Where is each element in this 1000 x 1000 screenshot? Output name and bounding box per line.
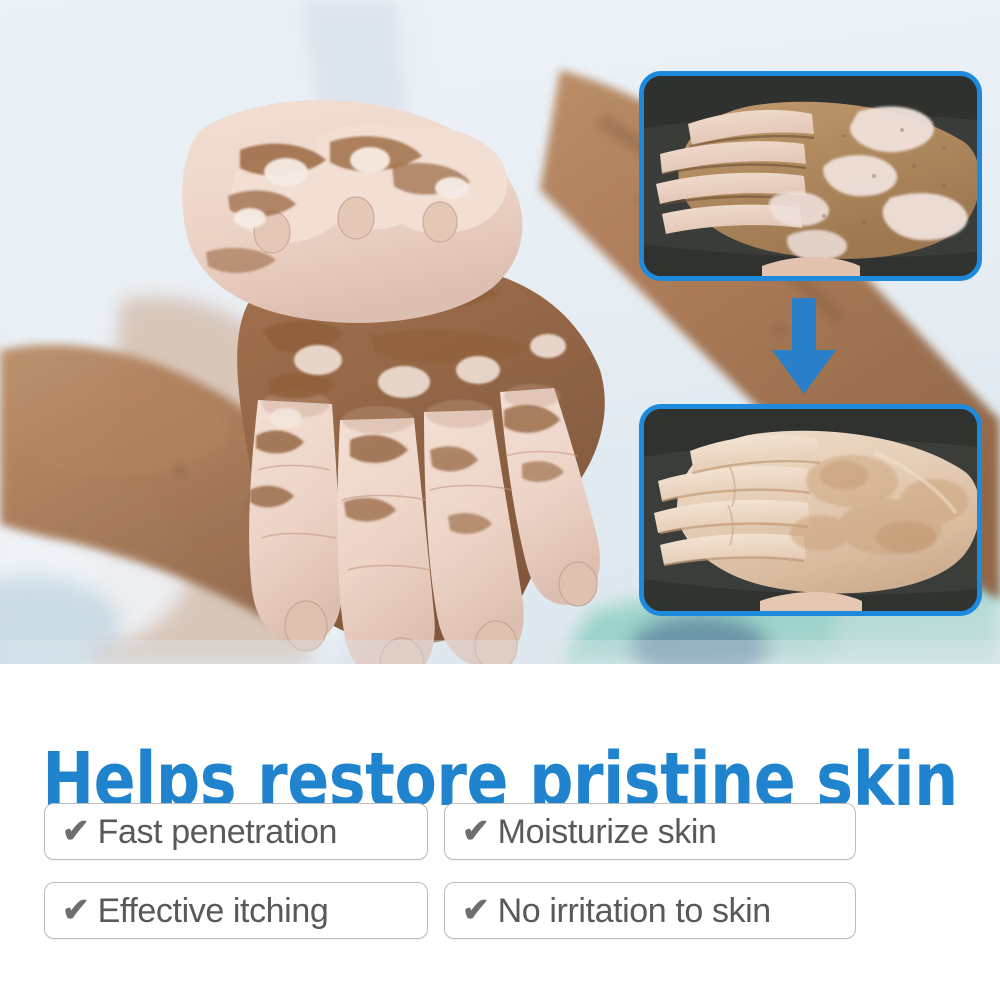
feature-label: No irritation to skin [498,894,771,928]
before-treatment-photo [639,71,982,281]
feature-list: ✔ Fast penetration ✔ Moisturize skin ✔ E… [44,803,856,939]
check-icon: ✔ [62,814,90,847]
after-hand-illustration [644,409,977,611]
check-icon: ✔ [62,893,90,926]
check-icon: ✔ [462,814,490,847]
feature-label: Effective itching [98,894,329,928]
feature-label: Moisturize skin [498,815,717,849]
product-banner: Helps restore pristine skin ✔ Fast penet… [0,0,1000,1000]
feature-item-effective-itching[interactable]: ✔ Effective itching [44,882,428,939]
hero-photo [0,0,1000,664]
feature-item-moisturize-skin[interactable]: ✔ Moisturize skin [444,803,856,860]
feature-label: Fast penetration [98,815,337,849]
feature-item-fast-penetration[interactable]: ✔ Fast penetration [44,803,428,860]
feature-item-no-irritation-to-skin[interactable]: ✔ No irritation to skin [444,882,856,939]
before-hand-illustration [644,76,977,276]
downward-arrow-icon [768,298,840,394]
after-treatment-photo [639,404,982,616]
check-icon: ✔ [462,893,490,926]
